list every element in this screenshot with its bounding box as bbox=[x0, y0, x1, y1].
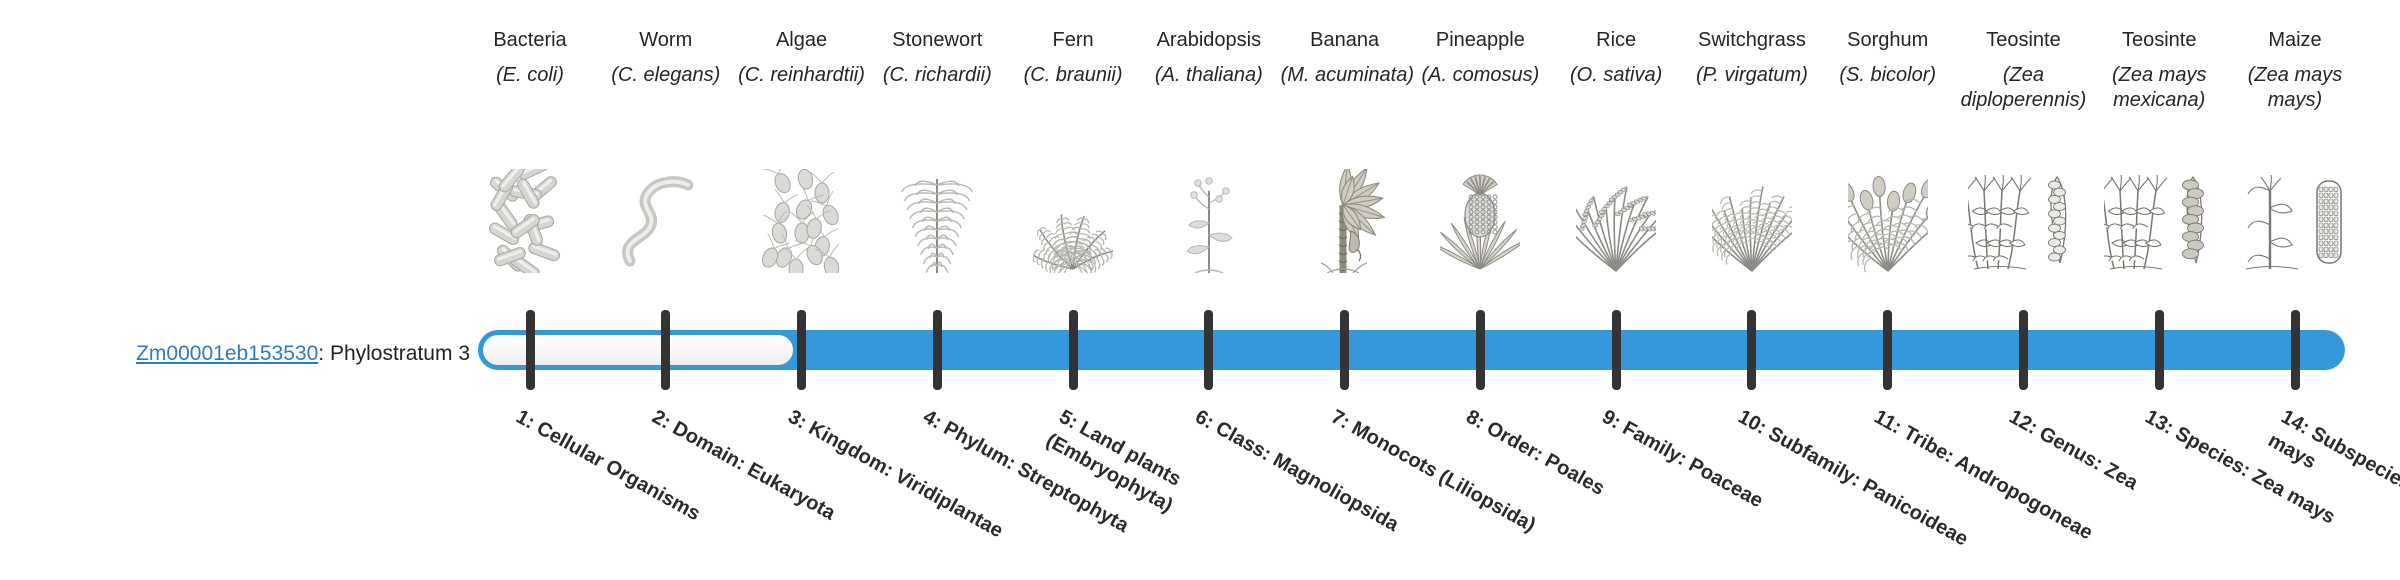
stratum-tick-7[interactable] bbox=[1340, 310, 1349, 390]
species-common-name: Switchgrass bbox=[1688, 28, 1816, 52]
stratum-label-10: 10: Subfamily: Panicoideae bbox=[1733, 404, 1973, 554]
species-common-name: Algae bbox=[738, 28, 866, 52]
stratum-number: 11: bbox=[1870, 406, 1905, 439]
species-column-teosinte-12: Teosinte(Zea diploperennis) bbox=[1959, 28, 2087, 113]
species-latin-name: (C. braunii) bbox=[1009, 63, 1137, 88]
species-column-maize-14: Maize(Zea mays mays) bbox=[2231, 28, 2359, 113]
species-column-stonewort-4: Stonewort(C. richardii) bbox=[873, 28, 1001, 88]
species-column-sorghum-11: Sorghum(S. bicolor) bbox=[1824, 28, 1952, 88]
algae-icon bbox=[727, 168, 877, 273]
fern-icon bbox=[998, 168, 1148, 273]
stratum-tick-3[interactable] bbox=[797, 310, 806, 390]
species-latin-name: (Zea mays mays) bbox=[2231, 63, 2359, 113]
arabidopsis-icon bbox=[1134, 168, 1284, 273]
species-latin-name: (C. reinhardtii) bbox=[738, 63, 866, 88]
species-latin-name: (A. thaliana) bbox=[1145, 63, 1273, 88]
species-column-pineapple-8: Pineapple(A. comosus) bbox=[1416, 28, 1544, 88]
gene-label-separator: : bbox=[318, 342, 330, 365]
species-column-arabidopsis-6: Arabidopsis(A. thaliana) bbox=[1145, 28, 1273, 88]
species-latin-name: (A. comosus) bbox=[1416, 63, 1544, 88]
stratum-label-1: 1: Cellular Organisms bbox=[511, 404, 751, 554]
stratum-tick-11[interactable] bbox=[1883, 310, 1892, 390]
stratum-rank: Genus: Zea bbox=[2036, 422, 2142, 494]
teosinte-diplo-icon bbox=[1948, 168, 2098, 273]
gene-id-link[interactable]: Zm00001eb153530 bbox=[136, 342, 318, 365]
stratum-number: 3: bbox=[784, 406, 810, 434]
stratum-tick-9[interactable] bbox=[1612, 310, 1621, 390]
stratum-number: 12: bbox=[2006, 406, 2042, 439]
stratum-label-9: 9: Family: Poaceae bbox=[1597, 404, 1837, 554]
stratum-label-11: 11: Tribe: Andropogoneae bbox=[1869, 404, 2109, 554]
stratum-tick-8[interactable] bbox=[1476, 310, 1485, 390]
bacteria-icon bbox=[455, 168, 605, 273]
species-common-name: Maize bbox=[2231, 28, 2359, 52]
stratum-rank: Order: Poales bbox=[1483, 417, 1608, 500]
pineapple-icon bbox=[1405, 168, 1555, 273]
species-common-name: Arabidopsis bbox=[1145, 28, 1273, 52]
species-common-name: Worm bbox=[602, 28, 730, 52]
species-common-name: Teosinte bbox=[1959, 28, 2087, 52]
species-latin-name: (Zea mays mexicana) bbox=[2095, 63, 2223, 113]
species-column-worm-2: Worm(C. elegans) bbox=[602, 28, 730, 88]
species-column-rice-9: Rice(O. sativa) bbox=[1552, 28, 1680, 88]
stratum-tick-10[interactable] bbox=[1747, 310, 1756, 390]
switchgrass-icon bbox=[1677, 168, 1827, 273]
stratum-tick-12[interactable] bbox=[2019, 310, 2028, 390]
teosinte-mex-icon bbox=[2084, 168, 2234, 273]
species-column-banana-7: Banana(M. acuminata) bbox=[1281, 28, 1409, 88]
species-latin-name: (M. acuminata) bbox=[1281, 63, 1409, 88]
stratum-number: 2: bbox=[648, 406, 674, 434]
phylostratum-progress-bar[interactable] bbox=[478, 330, 2345, 370]
species-common-name: Pineapple bbox=[1416, 28, 1544, 52]
species-column-teosinte-13: Teosinte(Zea mays mexicana) bbox=[2095, 28, 2223, 113]
species-common-name: Banana bbox=[1281, 28, 1409, 52]
stratum-number: 6: bbox=[1191, 406, 1217, 434]
stratum-number: 10: bbox=[1734, 406, 1770, 439]
banana-icon bbox=[1270, 168, 1420, 273]
species-common-name: Fern bbox=[1009, 28, 1137, 52]
species-latin-name: (S. bicolor) bbox=[1824, 63, 1952, 88]
species-common-name: Bacteria bbox=[466, 28, 594, 52]
maize-icon bbox=[2220, 168, 2370, 273]
stratum-label-2: 2: Domain: Eukaryota bbox=[647, 404, 887, 554]
rice-icon bbox=[1541, 168, 1691, 273]
species-column-switchgrass-10: Switchgrass(P. virgatum) bbox=[1688, 28, 1816, 88]
phylostratum-value-text: Phylostratum 3 bbox=[330, 342, 470, 365]
stratum-label-7: 7: Monocots (Liliopsida) bbox=[1326, 404, 1566, 554]
species-column-fern-5: Fern(C. braunii) bbox=[1009, 28, 1137, 88]
species-common-name: Sorghum bbox=[1824, 28, 1952, 52]
stratum-number: 7: bbox=[1327, 406, 1353, 434]
stratum-label-3: 3: Kingdom: Viridiplantae bbox=[782, 404, 1022, 554]
species-latin-name: (O. sativa) bbox=[1552, 63, 1680, 88]
sorghum-icon bbox=[1813, 168, 1963, 273]
stratum-label-8: 8: Order: Poales bbox=[1461, 404, 1701, 554]
stratum-tick-2[interactable] bbox=[661, 310, 670, 390]
stratum-tick-4[interactable] bbox=[933, 310, 942, 390]
stratum-tick-14[interactable] bbox=[2291, 310, 2300, 390]
species-latin-name: (P. virgatum) bbox=[1688, 63, 1816, 88]
species-column-bacteria-1: Bacteria(E. coli) bbox=[466, 28, 594, 88]
species-common-name: Stonewort bbox=[873, 28, 1001, 52]
stratum-number: 13: bbox=[2142, 406, 2178, 439]
stratum-tick-6[interactable] bbox=[1204, 310, 1213, 390]
stratum-tick-13[interactable] bbox=[2155, 310, 2164, 390]
species-common-name: Rice bbox=[1552, 28, 1680, 52]
species-latin-name: (C. richardii) bbox=[873, 63, 1001, 88]
phylostratum-timeline: Zm00001eb153530: Phylostratum 3 Bacteria… bbox=[0, 0, 2400, 580]
stratum-tick-5[interactable] bbox=[1069, 310, 1078, 390]
species-column-algae-3: Algae(C. reinhardtii) bbox=[738, 28, 866, 88]
species-latin-name: (E. coli) bbox=[466, 63, 594, 88]
stratum-tick-1[interactable] bbox=[526, 310, 535, 390]
species-latin-name: (C. elegans) bbox=[602, 63, 730, 88]
gene-phylostratum-label: Zm00001eb153530: Phylostratum 3 bbox=[0, 341, 470, 367]
species-latin-name: (Zea diploperennis) bbox=[1959, 63, 2087, 113]
species-common-name: Teosinte bbox=[2095, 28, 2223, 52]
stonewort-icon bbox=[862, 168, 1012, 273]
stratum-label-12: 12: Genus: Zea bbox=[2004, 404, 2244, 554]
worm-icon bbox=[591, 168, 741, 273]
